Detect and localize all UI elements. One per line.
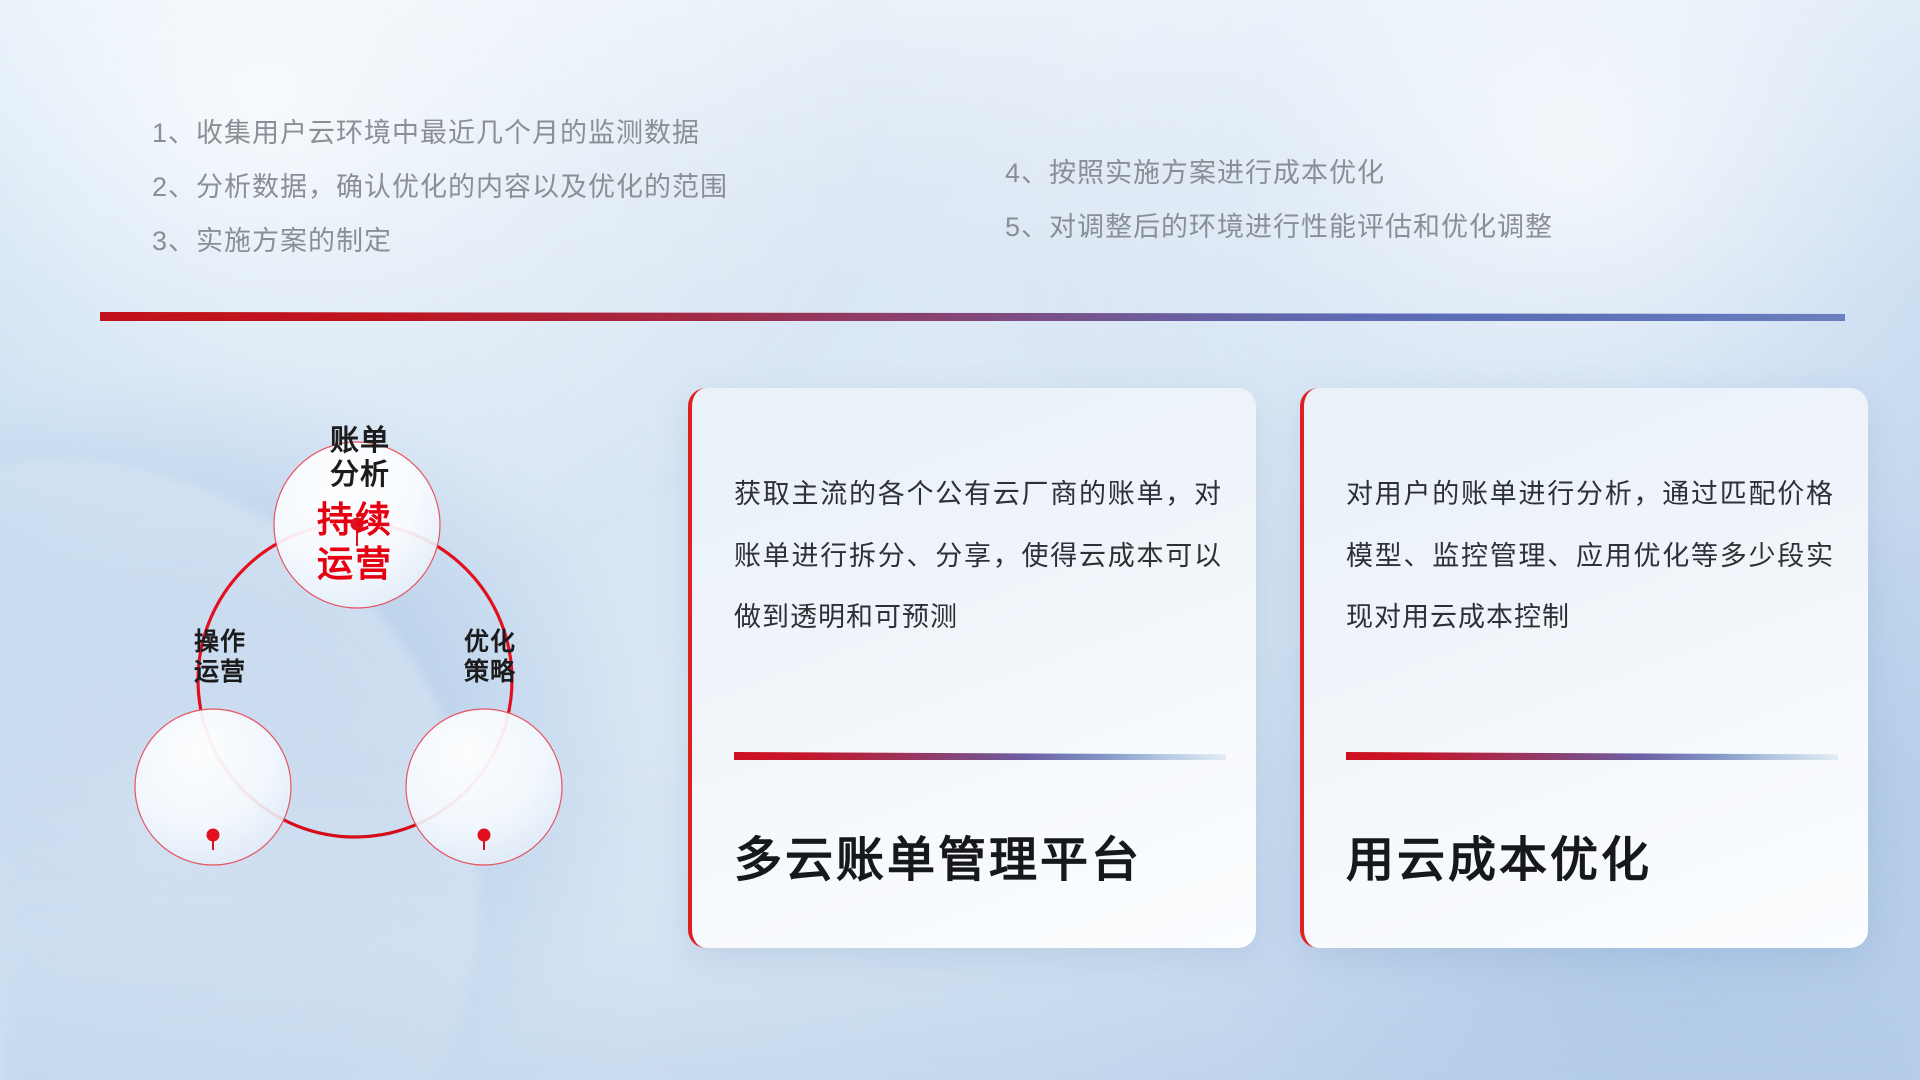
card-body-text: 对用户的账单进行分析，通过匹配价格模型、监控管理、应用优化等多少段实现对用云成本… <box>1346 464 1834 649</box>
continuous-operation-diagram: 账单 分析 操作 运营 优化 策略 持续 运营 <box>95 350 615 950</box>
steps-list-right: 4、按照实施方案进行成本优化 5、对调整后的环境进行性能评估和优化调整 <box>1005 160 1553 241</box>
node-label-optimization-strategy: 优化 策略 <box>415 628 565 687</box>
diagram-center-label: 持续 运营 <box>260 498 450 586</box>
node-dot-left <box>207 829 220 842</box>
step-item-2: 2、分析数据，确认优化的内容以及优化的范围 <box>152 174 728 201</box>
node-dot-right <box>478 829 491 842</box>
card-cloud-cost-optimization[interactable]: 对用户的账单进行分析，通过匹配价格模型、监控管理、应用优化等多少段实现对用云成本… <box>1300 388 1868 948</box>
step-item-3: 3、实施方案的制定 <box>152 228 728 255</box>
card-divider <box>734 752 1226 760</box>
card-body-text: 获取主流的各个公有云厂商的账单，对账单进行拆分、分享，使得云成本可以做到透明和可… <box>734 464 1222 649</box>
steps-list-left: 1、收集用户云环境中最近几个月的监测数据 2、分析数据，确认优化的内容以及优化的… <box>152 120 728 255</box>
node-label-operations: 操作 运营 <box>145 628 295 687</box>
node-label-billing-analysis: 账单 分析 <box>285 424 435 492</box>
step-item-4: 4、按照实施方案进行成本优化 <box>1005 160 1553 187</box>
card-title: 多云账单管理平台 <box>734 820 1142 890</box>
step-item-1: 1、收集用户云环境中最近几个月的监测数据 <box>152 120 728 147</box>
step-item-5: 5、对调整后的环境进行性能评估和优化调整 <box>1005 214 1553 241</box>
card-multi-cloud-billing-platform[interactable]: 获取主流的各个公有云厂商的账单，对账单进行拆分、分享，使得云成本可以做到透明和可… <box>688 388 1256 948</box>
card-divider <box>1346 752 1838 760</box>
card-title: 用云成本优化 <box>1346 820 1652 890</box>
